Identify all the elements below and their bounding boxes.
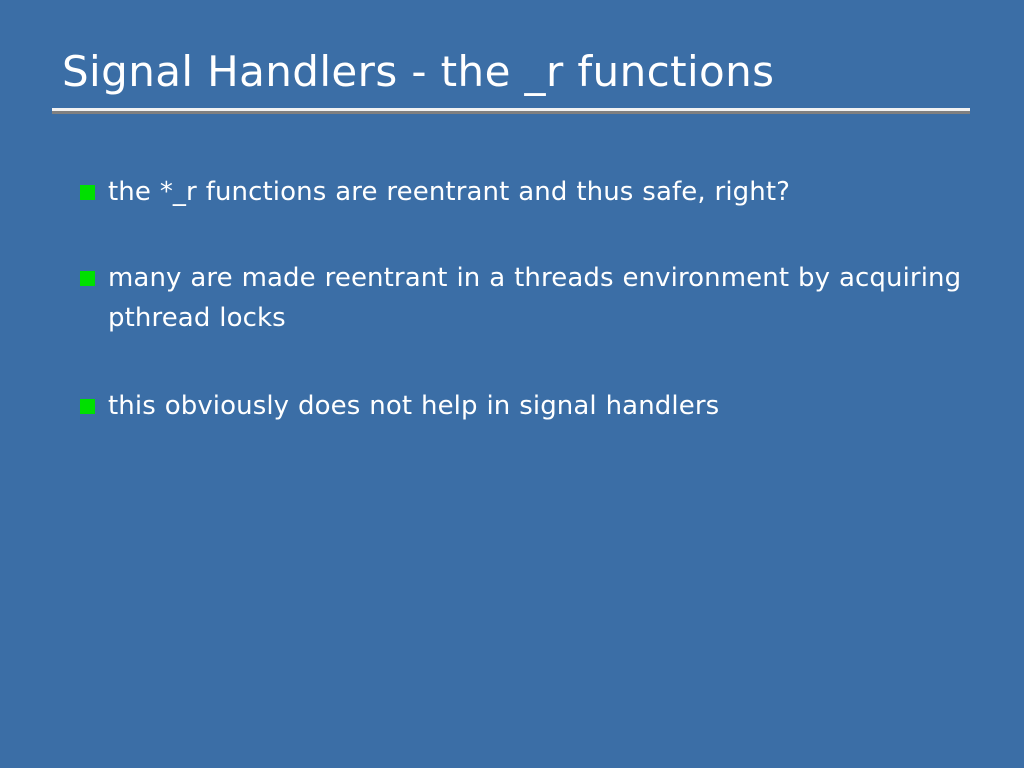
list-item: many are made reentrant in a threads env… bbox=[78, 258, 968, 338]
title-divider bbox=[52, 108, 970, 113]
title-divider-shadow bbox=[52, 111, 970, 114]
page-title: Signal Handlers - the _r functions bbox=[52, 46, 972, 98]
slide-body: the *_r functions are reentrant and thus… bbox=[78, 172, 968, 426]
slide-title-block: Signal Handlers - the _r functions bbox=[52, 46, 972, 98]
list-item: this obviously does not help in signal h… bbox=[78, 386, 968, 426]
list-item-label: many are made reentrant in a threads env… bbox=[108, 258, 968, 338]
list-item: the *_r functions are reentrant and thus… bbox=[78, 172, 968, 212]
presentation-slide: Signal Handlers - the _r functions the *… bbox=[0, 0, 1024, 768]
list-item-label: the *_r functions are reentrant and thus… bbox=[108, 172, 968, 212]
list-item-label: this obviously does not help in signal h… bbox=[108, 386, 968, 426]
square-bullet-icon bbox=[80, 271, 95, 286]
square-bullet-icon bbox=[80, 399, 95, 414]
square-bullet-icon bbox=[80, 185, 95, 200]
